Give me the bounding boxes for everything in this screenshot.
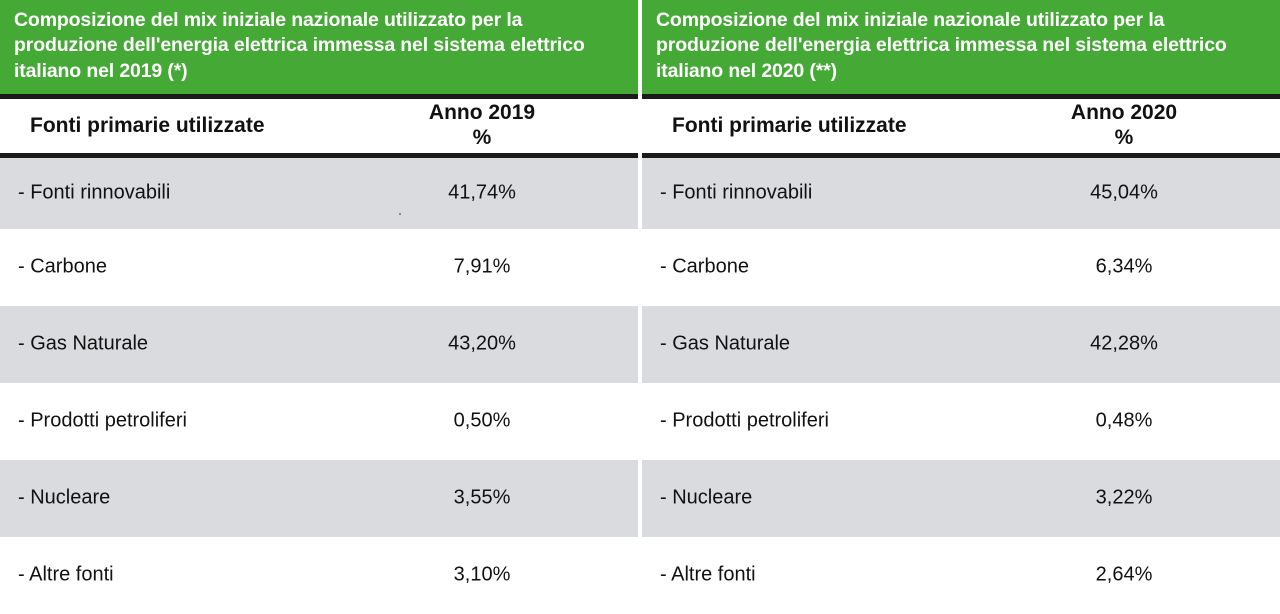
table-panel-2020: Composizione del mix iniziale nazionale … [642, 0, 1280, 614]
table-row: - Nucleare 3,55% [0, 460, 638, 537]
table-row: - Nucleare 3,22% [642, 460, 1280, 537]
row-value: 3,55% [454, 487, 511, 510]
row-label: - Nucleare [18, 487, 110, 510]
table-row: - Altre fonti 2,64% [642, 537, 1280, 614]
row-value: 41,74% [448, 182, 516, 205]
row-label: - Carbone [660, 256, 749, 279]
row-value: 7,91% [454, 256, 511, 279]
row-value: 0,48% [1096, 410, 1153, 433]
column-header-sources: Fonti primarie utilizzate [672, 114, 907, 138]
row-label: - Fonti rinnovabili [660, 182, 812, 205]
column-header-sources: Fonti primarie utilizzate [30, 114, 265, 138]
row-label: - Gas Naturale [18, 333, 148, 356]
column-header-unit-label: % [429, 126, 535, 151]
row-label: - Altre fonti [660, 564, 756, 587]
table-row: - Prodotti petroliferi 0,48% [642, 383, 1280, 460]
column-header-row-2020: Fonti primarie utilizzate Anno 2020 % [642, 99, 1280, 153]
two-table-document: Composizione del mix iniziale nazionale … [0, 0, 1280, 614]
table-body-2019: - Fonti rinnovabili 41,74% - Carbone 7,9… [0, 158, 638, 614]
table-row: - Gas Naturale 42,28% [642, 306, 1280, 383]
table-row: - Fonti rinnovabili 45,04% [642, 158, 1280, 229]
table-caption-text: Composizione del mix iniziale nazionale … [656, 8, 1266, 84]
row-label: - Nucleare [660, 487, 752, 510]
row-value: 43,20% [448, 333, 516, 356]
row-value: 42,28% [1090, 333, 1158, 356]
table-row: - Fonti rinnovabili 41,74% [0, 158, 638, 229]
row-label: - Carbone [18, 256, 107, 279]
row-label: - Altre fonti [18, 564, 114, 587]
row-label: - Fonti rinnovabili [18, 182, 170, 205]
column-header-year: Anno 2020 % [1071, 101, 1177, 151]
row-value: 0,50% [454, 410, 511, 433]
table-row: - Carbone 7,91% [0, 229, 638, 306]
column-header-year: Anno 2019 % [429, 101, 535, 151]
row-value: 3,22% [1096, 487, 1153, 510]
row-value: 2,64% [1096, 564, 1153, 587]
column-header-row-2019: Fonti primarie utilizzate Anno 2019 % [0, 99, 638, 153]
row-label: - Prodotti petroliferi [18, 410, 187, 433]
row-label: - Gas Naturale [660, 333, 790, 356]
row-value: 45,04% [1090, 182, 1158, 205]
row-value: 3,10% [454, 564, 511, 587]
table-caption-banner-2019: Composizione del mix iniziale nazionale … [0, 0, 638, 94]
column-header-year-label: Anno 2019 [429, 101, 535, 126]
table-body-2020: - Fonti rinnovabili 45,04% - Carbone 6,3… [642, 158, 1280, 614]
table-row: - Carbone 6,34% [642, 229, 1280, 306]
column-header-year-label: Anno 2020 [1071, 101, 1177, 126]
table-caption-text: Composizione del mix iniziale nazionale … [14, 8, 624, 84]
table-row: - Prodotti petroliferi 0,50% [0, 383, 638, 460]
table-panel-2019: Composizione del mix iniziale nazionale … [0, 0, 638, 614]
table-row: - Gas Naturale 43,20% [0, 306, 638, 383]
table-row: - Altre fonti 3,10% [0, 537, 638, 614]
row-value: 6,34% [1096, 256, 1153, 279]
scan-speck-artifact [399, 213, 401, 215]
table-caption-banner-2020: Composizione del mix iniziale nazionale … [642, 0, 1280, 94]
column-header-unit-label: % [1071, 126, 1177, 151]
row-label: - Prodotti petroliferi [660, 410, 829, 433]
